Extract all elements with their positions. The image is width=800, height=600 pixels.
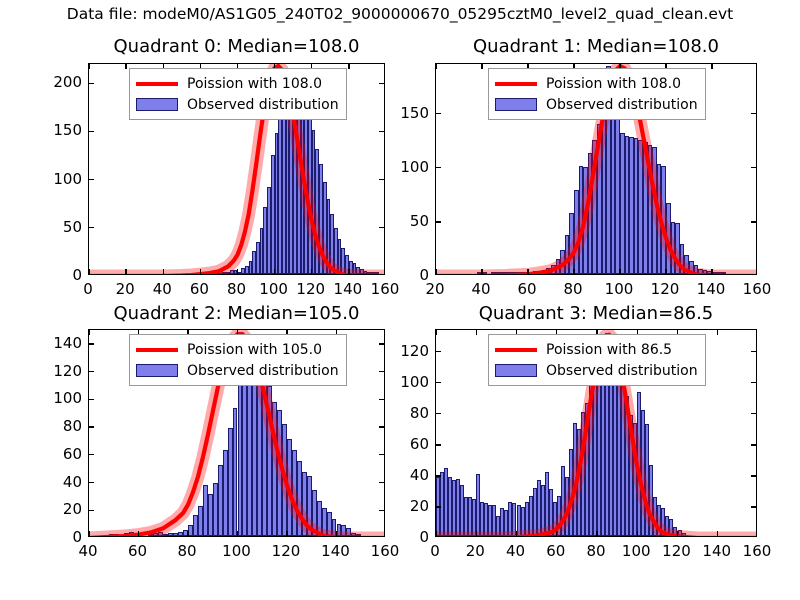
x-tick-label: 160	[743, 542, 772, 560]
y-tick-label: 120	[400, 342, 429, 360]
x-tick-label: 100	[622, 542, 651, 560]
legend-entry-observed: Observed distribution	[495, 360, 698, 381]
y-tick-label: 20	[410, 497, 429, 515]
legend-label-observed: Observed distribution	[187, 363, 339, 379]
quadrant-3-title: Quadrant 3: Median=86.5	[435, 303, 757, 324]
x-tick-label: 20	[466, 542, 485, 560]
x-tick-mark	[637, 531, 638, 536]
y-tick-mark	[436, 382, 441, 383]
y-tick-mark	[751, 506, 756, 507]
x-tick-mark	[435, 330, 436, 335]
x-tick-mark	[717, 531, 718, 536]
y-tick-mark	[436, 475, 441, 476]
quadrant-0-legend: Poission with 108.0Observed distribution	[129, 68, 347, 120]
legend-label-observed: Observed distribution	[546, 97, 698, 113]
x-tick-label: 60	[546, 542, 565, 560]
x-tick-label: 40	[506, 542, 525, 560]
legend-patch-swatch	[495, 98, 537, 111]
x-tick-mark	[476, 330, 477, 335]
y-tick-label: 40	[410, 466, 429, 484]
y-tick-label: 80	[410, 404, 429, 422]
x-tick-mark	[677, 531, 678, 536]
legend-label-observed: Observed distribution	[187, 97, 339, 113]
y-tick-mark	[436, 444, 441, 445]
legend-entry-poisson: Poission with 108.0	[495, 73, 698, 94]
legend-patch-swatch	[136, 364, 178, 377]
y-tick-label: 0	[419, 528, 429, 546]
legend-entry-observed: Observed distribution	[136, 360, 339, 381]
y-tick-mark	[751, 413, 756, 414]
legend-line-swatch	[495, 348, 537, 352]
y-tick-mark	[751, 351, 756, 352]
y-tick-mark	[436, 413, 441, 414]
legend-entry-observed: Observed distribution	[136, 94, 339, 115]
legend-entry-observed: Observed distribution	[495, 94, 698, 115]
legend-label-observed: Observed distribution	[546, 363, 698, 379]
y-tick-label: 60	[410, 435, 429, 453]
y-tick-label: 100	[400, 373, 429, 391]
y-tick-mark	[751, 382, 756, 383]
y-tick-mark	[751, 475, 756, 476]
legend-entry-poisson: Poission with 105.0	[136, 339, 339, 360]
y-tick-mark	[436, 351, 441, 352]
legend-label-poisson: Poission with 105.0	[187, 342, 322, 358]
legend-line-swatch	[495, 82, 537, 86]
quadrant-2-legend: Poission with 105.0Observed distribution	[129, 334, 347, 386]
x-tick-label: 140	[702, 542, 731, 560]
x-tick-label: 120	[662, 542, 691, 560]
x-tick-mark	[435, 531, 436, 536]
x-tick-label: 80	[586, 542, 605, 560]
quadrant-1-legend: Poission with 108.0Observed distribution	[488, 68, 706, 120]
legend-line-swatch	[136, 82, 178, 86]
legend-patch-swatch	[136, 98, 178, 111]
legend-line-swatch	[136, 348, 178, 352]
quadrant-3-axes: Poission with 86.5Observed distribution	[435, 329, 757, 537]
quadrant-3-legend: Poission with 86.5Observed distribution	[488, 334, 706, 386]
legend-entry-poisson: Poission with 108.0	[136, 73, 339, 94]
x-tick-mark	[556, 531, 557, 536]
x-tick-mark	[476, 531, 477, 536]
legend-label-poisson: Poission with 108.0	[187, 76, 322, 92]
legend-entry-poisson: Poission with 86.5	[495, 339, 698, 360]
figure-canvas: Data file: modeM0/AS1G05_240T02_90000006…	[0, 0, 800, 600]
x-tick-mark	[516, 531, 517, 536]
legend-patch-swatch	[495, 364, 537, 377]
legend-label-poisson: Poission with 108.0	[546, 76, 681, 92]
x-tick-label: 0	[430, 542, 440, 560]
legend-label-poisson: Poission with 86.5	[546, 342, 672, 358]
y-tick-mark	[436, 506, 441, 507]
x-tick-mark	[596, 531, 597, 536]
x-tick-mark	[717, 330, 718, 335]
y-tick-mark	[751, 444, 756, 445]
